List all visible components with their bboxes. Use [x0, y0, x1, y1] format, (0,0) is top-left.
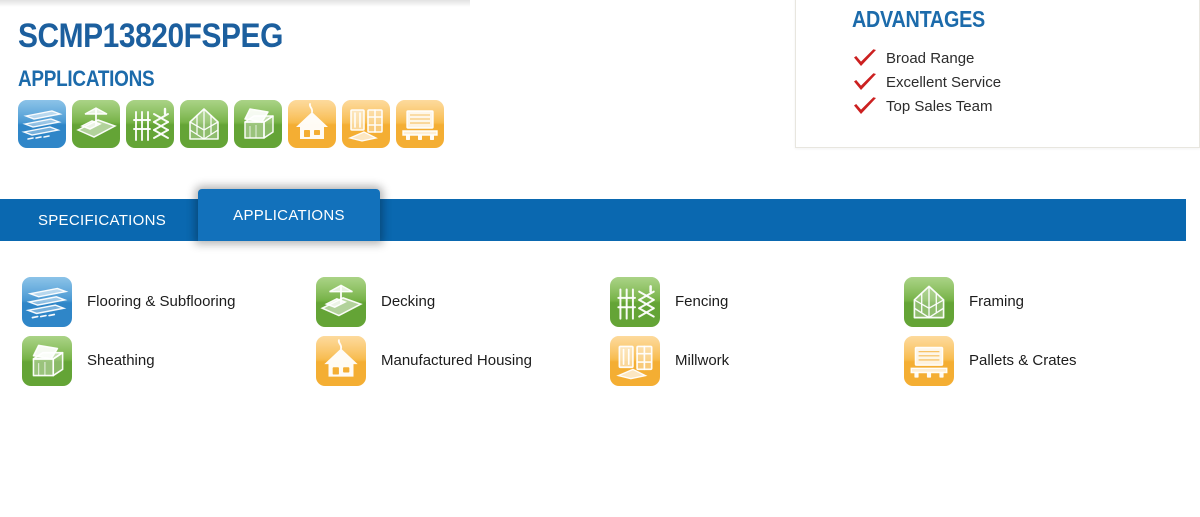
application-item[interactable]: Manufactured Housing — [316, 331, 610, 390]
application-label: Millwork — [675, 352, 729, 369]
framing-icon — [904, 277, 954, 327]
application-label: Flooring & Subflooring — [87, 293, 235, 310]
tab-applications[interactable]: APPLICATIONS — [198, 189, 380, 241]
advantage-item: Broad Range — [852, 47, 1199, 70]
check-icon — [852, 48, 878, 70]
advantage-item: Excellent Service — [852, 71, 1199, 94]
application-item[interactable]: Fencing — [610, 272, 904, 331]
product-header: SCMP13820FSPEG APPLICATIONS — [0, 0, 760, 148]
application-item[interactable]: Flooring & Subflooring — [22, 272, 316, 331]
advantage-label: Broad Range — [886, 48, 974, 70]
tab-specifications[interactable]: SPECIFICATIONS — [22, 199, 182, 241]
applications-grid: Flooring & Subflooring Decking Fencing — [22, 272, 1182, 390]
advantage-item: Top Sales Team — [852, 95, 1199, 118]
pallets-crates-icon — [904, 336, 954, 386]
flooring-subflooring-icon — [18, 100, 66, 148]
decking-icon — [72, 100, 120, 148]
advantages-list: Broad Range Excellent Service Top Sales … — [852, 47, 1199, 118]
application-item[interactable]: Framing — [904, 272, 1198, 331]
advantages-panel: ADVANTAGES Broad Range Excellent Service… — [795, 0, 1200, 148]
tab-specifications-label: SPECIFICATIONS — [38, 212, 166, 229]
application-label: Pallets & Crates — [969, 352, 1077, 369]
sheathing-icon — [234, 100, 282, 148]
application-label: Fencing — [675, 293, 728, 310]
application-label: Framing — [969, 293, 1024, 310]
application-icon-strip — [18, 100, 760, 148]
section-kicker: APPLICATIONS — [18, 66, 656, 92]
application-label: Manufactured Housing — [381, 352, 532, 369]
application-label: Decking — [381, 293, 435, 310]
application-item[interactable]: Millwork — [610, 331, 904, 390]
advantage-label: Excellent Service — [886, 72, 1001, 94]
check-icon — [852, 72, 878, 94]
tab-bar: SPECIFICATIONS APPLICATIONS — [0, 199, 1186, 241]
manufactured-housing-icon — [316, 336, 366, 386]
tab-applications-label: APPLICATIONS — [233, 207, 345, 224]
flooring-subflooring-icon — [22, 277, 72, 327]
millwork-icon — [342, 100, 390, 148]
application-label: Sheathing — [87, 352, 155, 369]
pallets-crates-icon — [396, 100, 444, 148]
manufactured-housing-icon — [288, 100, 336, 148]
application-item[interactable]: Pallets & Crates — [904, 331, 1198, 390]
application-item[interactable]: Decking — [316, 272, 610, 331]
fencing-icon — [126, 100, 174, 148]
fencing-icon — [610, 277, 660, 327]
advantages-title: ADVANTAGES — [852, 6, 1150, 33]
sheathing-icon — [22, 336, 72, 386]
advantage-label: Top Sales Team — [886, 96, 992, 118]
decking-icon — [316, 277, 366, 327]
application-item[interactable]: Sheathing — [22, 331, 316, 390]
page-title: SCMP13820FSPEG — [18, 16, 671, 56]
check-icon — [852, 96, 878, 118]
framing-icon — [180, 100, 228, 148]
millwork-icon — [610, 336, 660, 386]
